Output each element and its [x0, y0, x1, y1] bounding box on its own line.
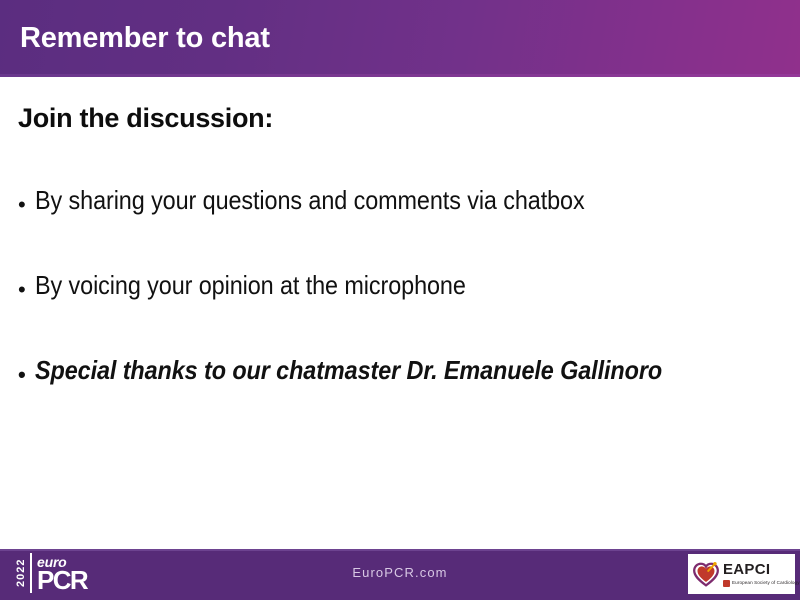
page-title: Remember to chat — [20, 22, 270, 55]
eapci-society-line: European Society of Cardiology — [723, 580, 800, 587]
slide: Remember to chat Join the discussion: • … — [0, 0, 800, 600]
eapci-society-label: European Society of Cardiology — [732, 581, 800, 586]
bullet-point-icon: • — [18, 272, 26, 301]
list-item: • By sharing your questions and comments… — [18, 187, 794, 216]
list-item: • By voicing your opinion at the microph… — [18, 272, 794, 301]
esc-mark-icon — [723, 580, 730, 587]
footer-website-url[interactable]: EuroPCR.com — [0, 565, 800, 580]
list-item-label: By voicing your opinion at the microphon… — [35, 272, 466, 299]
eapci-logo: EAPCI European Society of Cardiology — [688, 554, 795, 594]
heart-catheter-icon — [692, 560, 720, 588]
bullet-list: • By sharing your questions and comments… — [18, 187, 794, 442]
list-item-label: Special thanks to our chatmaster Dr. Ema… — [35, 357, 662, 384]
bullet-point-icon: • — [18, 357, 26, 386]
list-item-label: By sharing your questions and comments v… — [35, 187, 585, 214]
slide-body: Join the discussion: • By sharing your q… — [0, 77, 800, 549]
lead-heading: Join the discussion: — [18, 103, 273, 134]
eapci-logo-name: EAPCI — [723, 562, 800, 577]
eapci-logo-text: EAPCI European Society of Cardiology — [723, 562, 800, 587]
list-item: • Special thanks to our chatmaster Dr. E… — [18, 357, 794, 386]
bullet-point-icon: • — [18, 187, 26, 216]
footer-divider — [0, 549, 800, 551]
